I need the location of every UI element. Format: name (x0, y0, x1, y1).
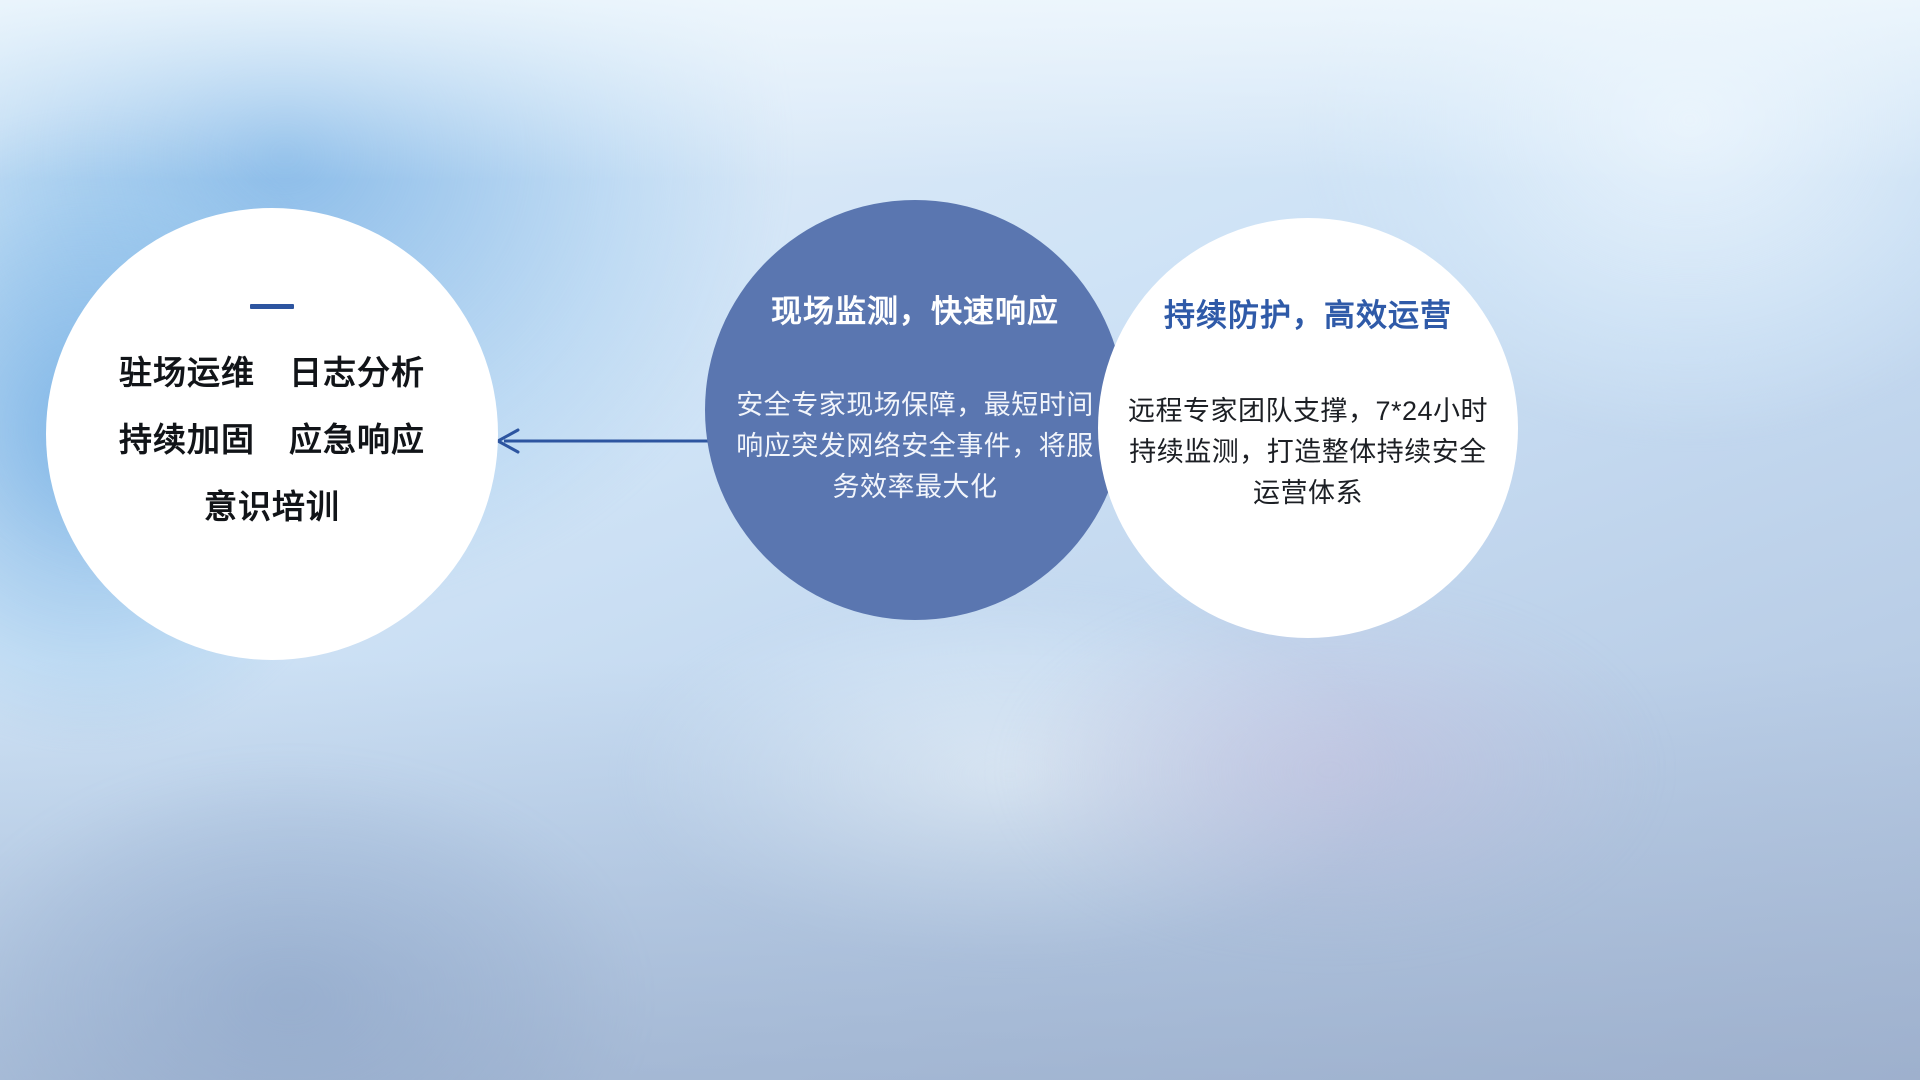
right-circle-title: 持续防护，高效运营 (1116, 290, 1500, 335)
capability-line-3: 意识培训 (46, 490, 498, 523)
capability-line-2: 持续加固 应急响应 (46, 423, 498, 456)
middle-circle-body: 安全专家现场保障，最短时间响应突发网络安全事件，将服务效率最大化 (727, 385, 1103, 508)
capability-circle-right[interactable]: 持续防护，高效运营 远程专家团队支撑，7*24小时持续监测，打造整体持续安全运营… (1098, 218, 1518, 638)
capability-circle-left[interactable]: 驻场运维 日志分析 持续加固 应急响应 意识培训 (46, 208, 498, 660)
capability-line-1: 驻场运维 日志分析 (46, 356, 498, 389)
slide-canvas: 驻场运维 日志分析 持续加固 应急响应 意识培训 现场监测，快速响应 安全专家现… (0, 0, 1920, 1080)
arrow-connector (480, 400, 740, 490)
middle-circle-title: 现场监测，快速响应 (727, 286, 1103, 331)
capability-circle-middle[interactable]: 现场监测，快速响应 安全专家现场保障，最短时间响应突发网络安全事件，将服务效率最… (705, 200, 1125, 620)
left-arrow-icon (498, 430, 738, 452)
accent-dash-icon (250, 304, 294, 309)
middle-circle-content: 现场监测，快速响应 安全专家现场保障，最短时间响应突发网络安全事件，将服务效率最… (705, 286, 1125, 508)
background-highlight-top (0, 0, 1920, 180)
left-circle-content: 驻场运维 日志分析 持续加固 应急响应 意识培训 (46, 304, 498, 523)
right-circle-content: 持续防护，高效运营 远程专家团队支撑，7*24小时持续监测，打造整体持续安全运营… (1098, 290, 1518, 514)
background-shade-bottom (0, 660, 1920, 1080)
right-circle-body: 远程专家团队支撑，7*24小时持续监测，打造整体持续安全运营体系 (1116, 391, 1500, 514)
